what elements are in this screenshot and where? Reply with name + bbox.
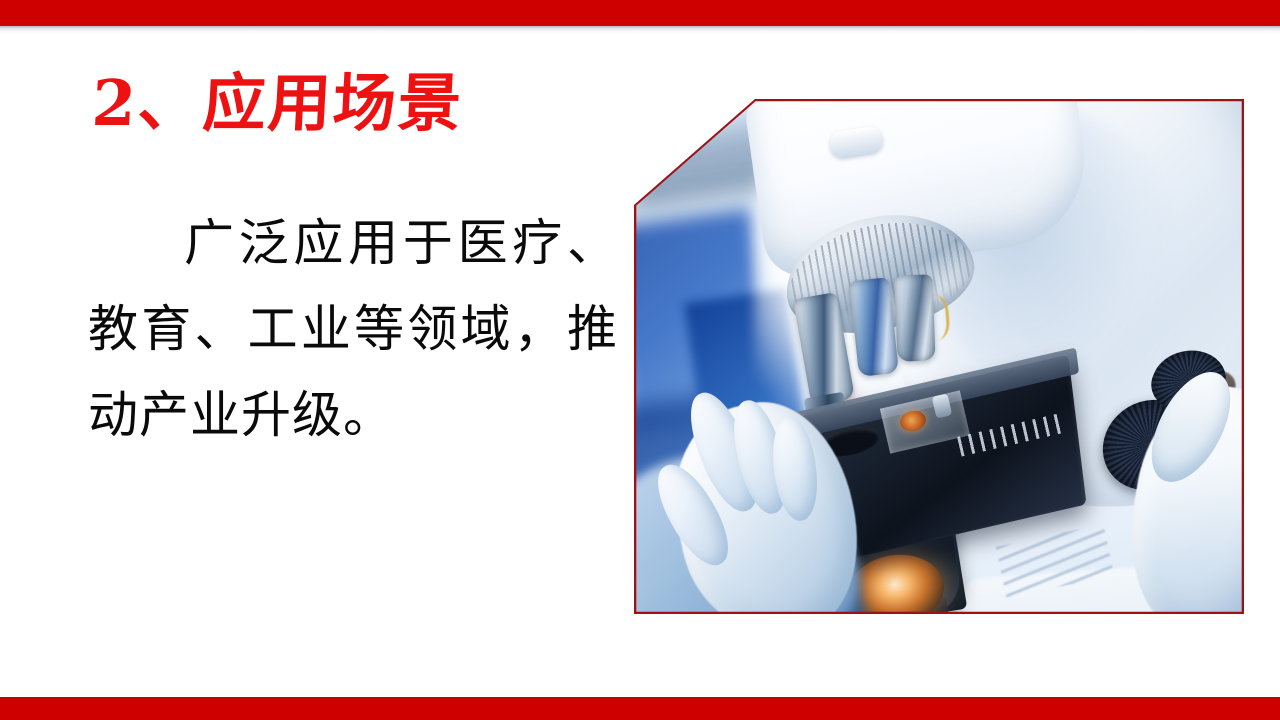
page-title: 2、应用场景 xyxy=(90,72,464,135)
bottom-red-banner xyxy=(0,697,1280,720)
slide-canvas: 2、应用场景 广泛应用于医疗、教育、工业等领域，推动产业升级。 xyxy=(0,0,1280,720)
body-paragraph: 广泛应用于医疗、教育、工业等领域，推动产业升级。 xyxy=(88,200,618,458)
microscope-photo xyxy=(634,99,1244,614)
photo-scene xyxy=(634,99,1244,614)
top-red-banner xyxy=(0,0,1280,26)
top-banner-shadow xyxy=(0,26,1280,34)
objective-gold-band xyxy=(912,294,950,342)
photo-clip-region xyxy=(634,99,1244,614)
